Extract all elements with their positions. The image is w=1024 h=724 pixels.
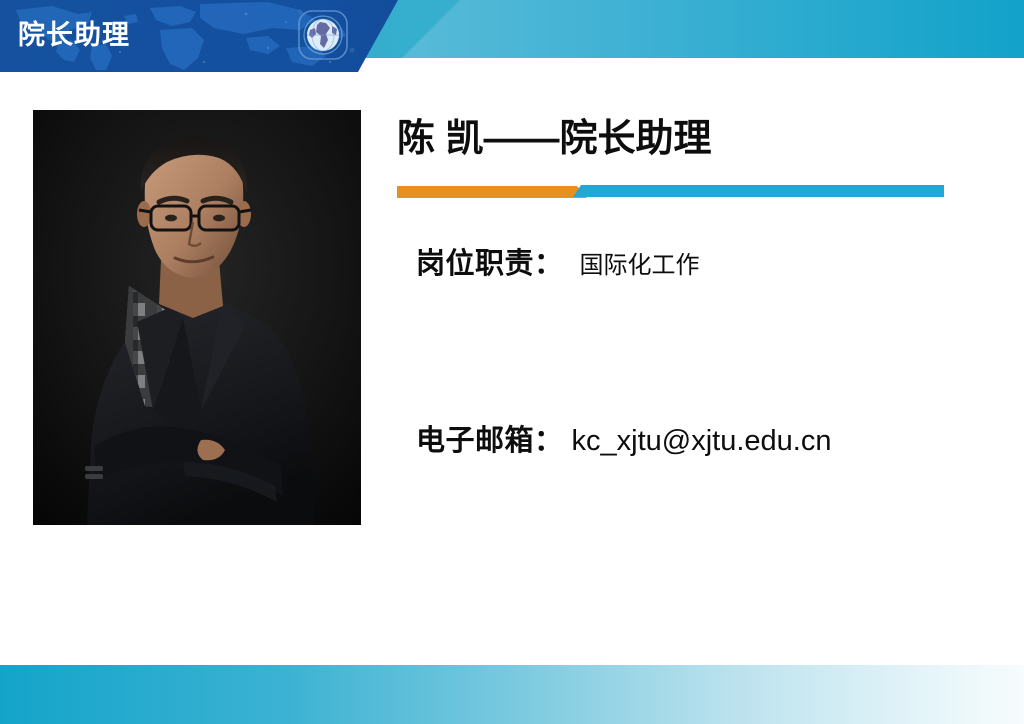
header-title: 院长助理 (18, 18, 130, 52)
field-email-label: 电子邮箱： (416, 425, 564, 457)
portrait-photo (33, 110, 361, 525)
divider-cyan-segment (573, 185, 944, 197)
divider-orange-segment (397, 186, 587, 198)
presentation-slide: 院长助理 (0, 0, 1024, 724)
portrait-photo-image (33, 110, 361, 525)
slide-footer-band (0, 665, 1024, 724)
field-email: 电子邮箱：kc_xjtu@xjtu.edu.cn (416, 417, 831, 459)
field-email-value: kc_xjtu@xjtu.edu.cn (572, 425, 832, 457)
divider-rule (397, 185, 944, 199)
slide-header: 院长助理 (0, 0, 1024, 72)
field-duty: 岗位职责：国际化工作 (416, 240, 700, 282)
page-title: 陈 凯——院长助理 (397, 112, 712, 166)
field-duty-value: 国际化工作 (580, 252, 700, 279)
globe-icon (296, 8, 350, 62)
field-duty-label: 岗位职责： (416, 248, 564, 280)
